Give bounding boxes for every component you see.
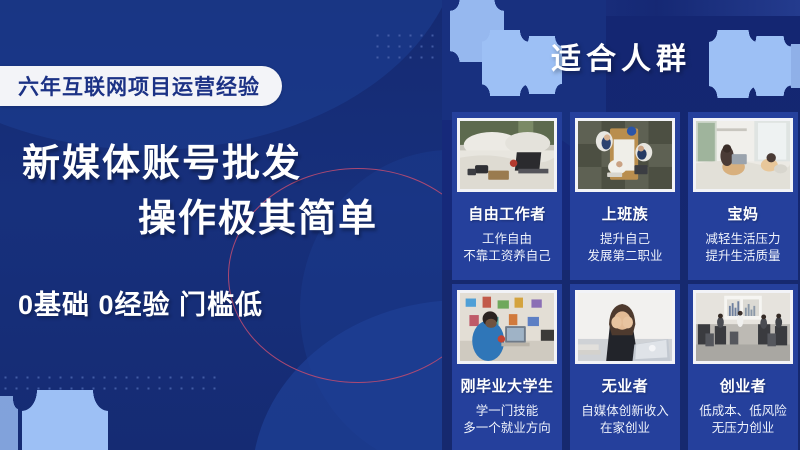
audience-card-desc-line1: 学一门技能 (463, 403, 551, 420)
audience-card-desc: 提升自己 发展第二职业 (587, 231, 662, 265)
sparkle-icon (22, 390, 108, 450)
audience-card[interactable]: 上班族 提升自己 发展第二职业 (570, 112, 680, 280)
seminar-room-photo (693, 290, 793, 364)
audience-card-title: 自由工作者 (468, 203, 546, 224)
audience-card-desc-line2: 提升生活质量 (705, 248, 780, 265)
subheadline: 0基础 0经验 门槛低 (18, 283, 263, 322)
headline-line-1: 新媒体账号批发 (22, 132, 302, 187)
audience-card[interactable]: 刚毕业大学生 学一门技能 多一个就业方向 (452, 284, 562, 450)
audience-card-desc-line2: 不靠工资养自己 (463, 248, 551, 265)
experience-badge: 六年互联网项目运营经验 (0, 66, 282, 106)
audience-card-desc: 低成本、低风险 无压力创业 (699, 403, 787, 437)
audience-card-title: 创业者 (720, 375, 767, 396)
audience-card-desc-line1: 自媒体创新收入 (581, 403, 669, 420)
audience-card-desc-line1: 工作自由 (463, 231, 551, 248)
mother-bedroom-photo (693, 118, 793, 192)
audience-card-desc: 学一门技能 多一个就业方向 (463, 403, 551, 437)
sparkle-icon (0, 396, 18, 450)
audience-card-desc-line1: 低成本、低风险 (699, 403, 787, 420)
office-topdown-photo (575, 118, 675, 192)
student-desk-photo (457, 290, 557, 364)
left-panel: 六年互联网项目运营经验 新媒体账号批发 操作极其简单 0基础 0经验 门槛低 (0, 0, 442, 450)
audience-card-desc-line2: 在家创业 (581, 420, 669, 437)
audience-card-desc: 减轻生活压力 提升生活质量 (705, 231, 780, 265)
headline-line-2: 操作极其简单 (138, 187, 378, 242)
audience-card-title: 刚毕业大学生 (460, 375, 553, 396)
audience-card[interactable]: 无业者 自媒体创新收入 在家创业 (570, 284, 680, 450)
audience-card-desc: 工作自由 不靠工资养自己 (463, 231, 551, 265)
audience-card-title: 无业者 (602, 375, 649, 396)
audience-card-desc-line1: 提升自己 (587, 231, 662, 248)
audience-card-desc-line1: 减轻生活压力 (705, 231, 780, 248)
audience-card-desc-line2: 多一个就业方向 (463, 420, 551, 437)
experience-badge-label: 六年互联网项目运营经验 (18, 71, 260, 101)
audience-card-desc-line2: 无压力创业 (699, 420, 787, 437)
bed-laptop-photo (457, 118, 557, 192)
audience-card-desc-line2: 发展第二职业 (587, 248, 662, 265)
section-title: 适合人群 (442, 34, 800, 78)
audience-card-grid: 自由工作者 工作自由 不靠工资养自己 (452, 112, 798, 450)
promo-poster: 六年互联网项目运营经验 新媒体账号批发 操作极其简单 0基础 0经验 门槛低 适… (0, 0, 800, 450)
audience-card[interactable]: 自由工作者 工作自由 不靠工资养自己 (452, 112, 562, 280)
audience-card-title: 宝妈 (727, 203, 758, 224)
dot-grid-top (372, 30, 442, 64)
audience-card-desc: 自媒体创新收入 在家创业 (581, 403, 669, 437)
audience-card[interactable]: 宝妈 减轻生活压力 提升生活质量 (688, 112, 798, 280)
audience-card-title: 上班族 (602, 203, 649, 224)
audience-card[interactable]: 创业者 低成本、低风险 无压力创业 (688, 284, 798, 450)
stressed-woman-photo (575, 290, 675, 364)
